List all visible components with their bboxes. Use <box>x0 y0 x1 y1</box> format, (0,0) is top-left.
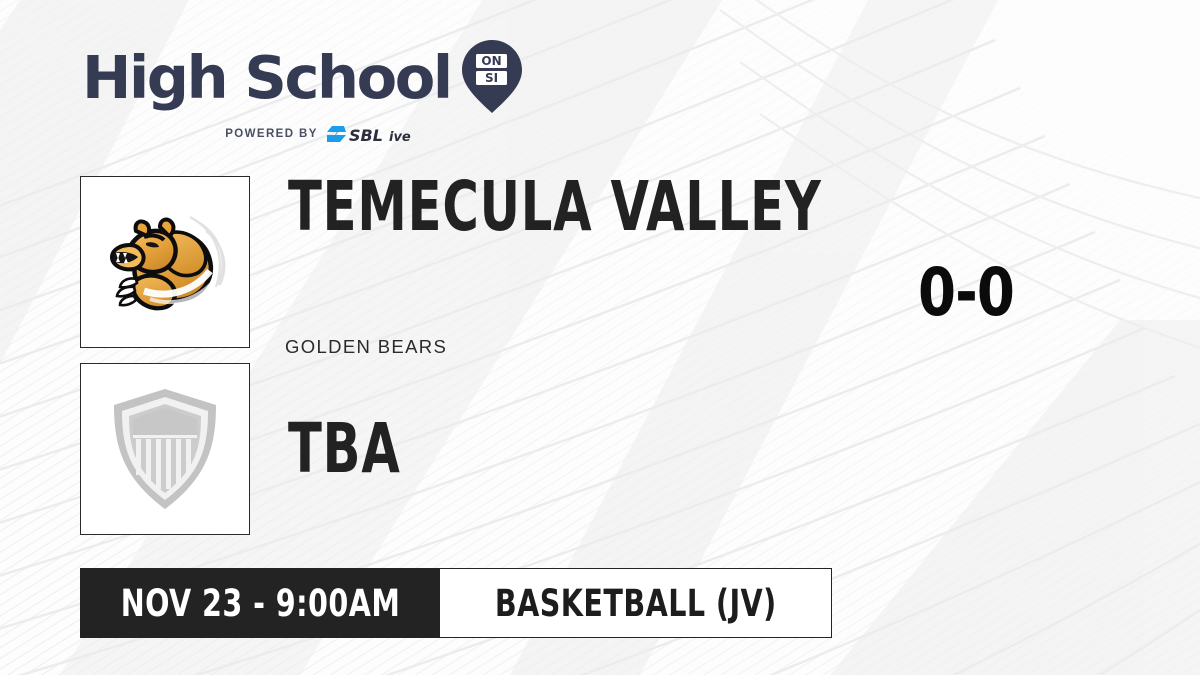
game-datetime-segment: NOV 23 - 9:00AM <box>80 568 440 638</box>
powered-by-row: POWERED BY SBL ive <box>150 125 512 143</box>
home-team-logo-box <box>80 176 250 348</box>
score-display: 0-0 <box>918 258 1014 328</box>
game-sport-segment: BASKETBALL (JV) <box>440 568 832 638</box>
brand-wordmark-row: High School ON SI <box>82 36 512 119</box>
sblive-suffix-text: ive <box>389 130 411 144</box>
badge-top-text: ON <box>481 54 501 68</box>
on-si-map-pin-badge-icon: ON SI <box>461 38 523 119</box>
sblive-prefix-text: SBL <box>349 126 383 144</box>
brand-header: High School ON SI POWERED BY <box>82 36 512 143</box>
game-info-bar: NOV 23 - 9:00AM BASKETBALL (JV) <box>80 568 832 638</box>
golden-bear-mascot-logo-icon <box>90 187 240 337</box>
powered-by-label: POWERED BY <box>225 128 318 140</box>
game-datetime-text: NOV 23 - 9:00AM <box>120 582 400 625</box>
brand-wordmark: High School <box>82 49 451 107</box>
home-team-name: TEMECULA VALLEY <box>288 172 822 242</box>
away-team-logo-box <box>80 363 250 535</box>
placeholder-shield-logo-icon <box>100 383 230 515</box>
away-team-name: TBA <box>288 414 401 484</box>
home-team-mascot: GOLDEN BEARS <box>285 336 447 358</box>
game-sport-text: BASKETBALL (JV) <box>495 582 777 625</box>
matchup-card: High School ON SI POWERED BY <box>0 0 1200 675</box>
sblive-logo-icon: SBL ive <box>327 124 437 144</box>
badge-bottom-text: SI <box>485 71 498 85</box>
